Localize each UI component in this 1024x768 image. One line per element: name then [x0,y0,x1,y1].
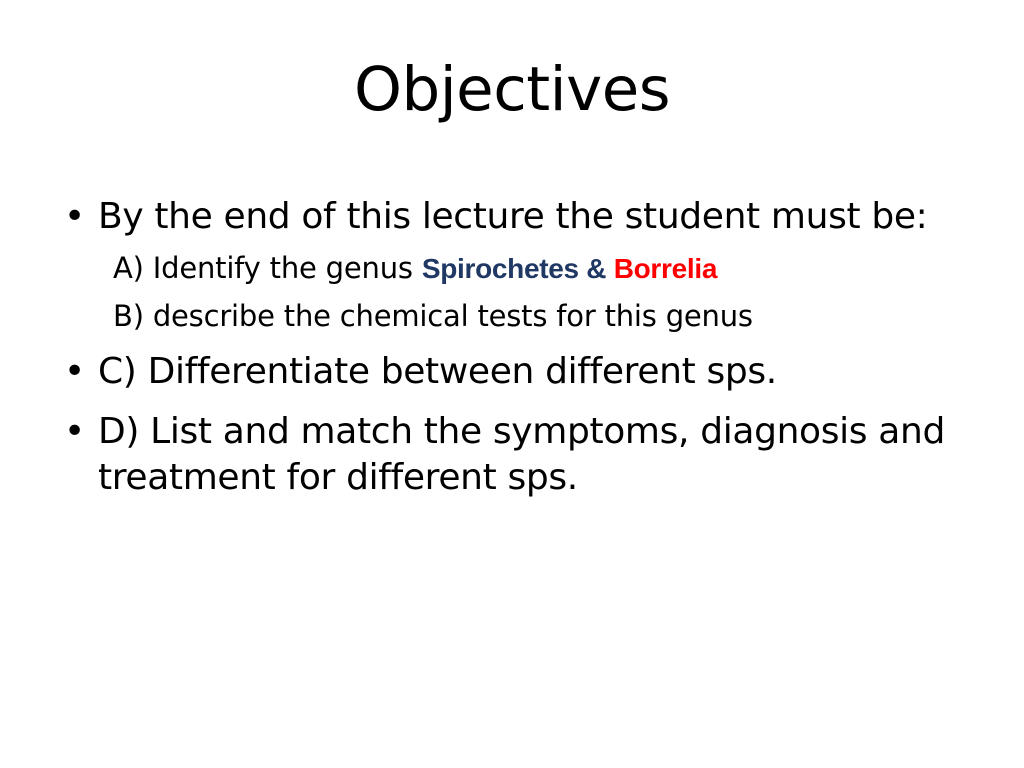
bullet-icon: • [64,349,86,395]
bullet-icon: • [64,194,86,240]
objective-intro-text: By the end of this lecture the student m… [98,196,927,237]
genus-name-spirochetes: Spirochetes & [422,253,606,284]
objective-b-text: B) describe the chemical tests for this … [113,299,753,333]
genus-name-borrelia: Borrelia [614,253,717,284]
bullet-icon: • [64,409,86,455]
slide-canvas: Objectives • By the end of this lecture … [0,0,1024,768]
objective-c-text: C) Differentiate between different sps. [98,351,777,392]
objectives-list: • By the end of this lecture the student… [0,182,1024,501]
list-item-objective-c: • C) Differentiate between different sps… [0,349,1024,395]
emphasis-spacer [606,253,613,284]
list-item-objective-intro: • By the end of this lecture the student… [0,194,1024,240]
page-title: Objectives [0,57,1024,123]
list-item-objective-a: A) Identify the genus Spirochetes & Borr… [0,250,1024,288]
objective-a-prefix: A) Identify the genus [113,251,422,285]
list-item-objective-b: B) describe the chemical tests for this … [0,298,1024,336]
list-item-objective-d: • D) List and match the symptoms, diagno… [0,409,1024,501]
objective-d-text: D) List and match the symptoms, diagnosi… [98,411,945,498]
